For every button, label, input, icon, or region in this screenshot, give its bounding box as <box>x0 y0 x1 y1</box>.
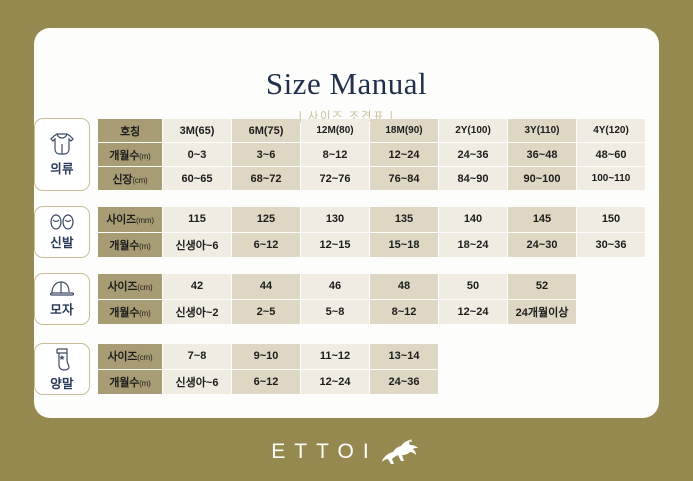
running-horse-icon <box>380 439 422 465</box>
row-header-label: 사이즈 <box>108 281 138 293</box>
row-header: 호칭 <box>98 119 162 142</box>
size-table: 호칭3M(65)6M(75)12M(80)18M(90)2Y(100)3Y(11… <box>97 118 646 191</box>
row-header-unit: (m) <box>139 152 150 161</box>
table-cell: 6~12 <box>232 233 300 258</box>
table-cell: 90~100 <box>508 167 576 190</box>
row-header-label: 개월수 <box>109 150 139 162</box>
table-cell: 0~3 <box>163 143 231 166</box>
row-header-unit: (cm) <box>132 176 147 185</box>
table-row: 개월수(m)신생아~66~1212~2424~36 <box>98 370 438 395</box>
row-header-label: 신장 <box>112 174 132 186</box>
cap-icon <box>48 280 76 297</box>
row-header: 사이즈(mm) <box>98 207 162 232</box>
category-name: 양말 <box>50 373 74 392</box>
table-cell: 2Y(100) <box>439 119 507 142</box>
table-cell: 36~48 <box>508 143 576 166</box>
table-cell: 13~14 <box>370 344 438 369</box>
brand-name: ETTOI <box>271 440 377 464</box>
table-cell: 150 <box>577 207 645 232</box>
table-cell: 24~30 <box>508 233 576 258</box>
row-header-label: 개월수 <box>109 240 139 252</box>
table-cell: 12~24 <box>439 300 507 325</box>
row-header-unit: (m) <box>139 379 150 388</box>
footer: ETTOI <box>0 432 693 472</box>
table-cell: 3Y(110) <box>508 119 576 142</box>
table-cell: 15~18 <box>370 233 438 258</box>
table-cell: 18~24 <box>439 233 507 258</box>
table-row: 호칭3M(65)6M(75)12M(80)18M(90)2Y(100)3Y(11… <box>98 119 645 142</box>
table-cell: 신생아~6 <box>163 233 231 258</box>
table-cell: 12~15 <box>301 233 369 258</box>
table-row: 사이즈(cm)7~89~1011~1213~14 <box>98 344 438 369</box>
size-section-의류: 의류호칭3M(65)6M(75)12M(80)18M(90)2Y(100)3Y(… <box>34 118 646 191</box>
table-cell: 11~12 <box>301 344 369 369</box>
row-header-label: 사이즈 <box>108 351 138 363</box>
table-cell: 7~8 <box>163 344 231 369</box>
row-header-unit: (m) <box>139 309 150 318</box>
table-cell: 3M(65) <box>163 119 231 142</box>
table-cell: 24~36 <box>370 370 438 395</box>
size-section-모자: 모자사이즈(cm)424446485052개월수(m)신생아~22~55~88~… <box>34 273 577 325</box>
table-cell: 신생아~6 <box>163 370 231 395</box>
table-cell: 125 <box>232 207 300 232</box>
table-row: 사이즈(cm)424446485052 <box>98 274 576 299</box>
table-cell: 9~10 <box>232 344 300 369</box>
table-cell: 84~90 <box>439 167 507 190</box>
table-row: 개월수(m)신생아~66~1212~1515~1818~2424~3030~36 <box>98 233 645 258</box>
table-cell: 8~12 <box>301 143 369 166</box>
category-name: 신발 <box>50 232 74 251</box>
row-header-label: 사이즈 <box>106 214 136 226</box>
row-header-unit: (cm) <box>137 283 152 292</box>
table-cell: 46 <box>301 274 369 299</box>
size-table: 사이즈(cm)7~89~1011~1213~14개월수(m)신생아~66~121… <box>97 343 439 395</box>
category-label-box: 모자 <box>34 273 90 325</box>
row-header-unit: (cm) <box>137 353 152 362</box>
table-cell: 60~65 <box>163 167 231 190</box>
category-label-box: 양말 <box>34 343 90 395</box>
table-cell: 신생아~2 <box>163 300 231 325</box>
table-cell: 115 <box>163 207 231 232</box>
table-cell: 42 <box>163 274 231 299</box>
size-section-양말: 양말사이즈(cm)7~89~1011~1213~14개월수(m)신생아~66~1… <box>34 343 439 395</box>
table-cell: 8~12 <box>370 300 438 325</box>
size-table: 사이즈(mm)115125130135140145150개월수(m)신생아~66… <box>97 206 646 258</box>
table-row: 개월수(m)0~33~68~1212~2424~3636~4848~60 <box>98 143 645 166</box>
table-row: 개월수(m)신생아~22~55~88~1212~2424개월이상 <box>98 300 576 325</box>
table-cell: 44 <box>232 274 300 299</box>
table-row: 신장(cm)60~6568~7272~7676~8484~9090~100100… <box>98 167 645 190</box>
row-header: 개월수(m) <box>98 300 162 325</box>
table-cell: 52 <box>508 274 576 299</box>
table-cell: 4Y(120) <box>577 119 645 142</box>
table-cell: 130 <box>301 207 369 232</box>
table-cell: 140 <box>439 207 507 232</box>
table-cell: 24개월이상 <box>508 300 576 325</box>
table-cell: 12~24 <box>370 143 438 166</box>
category-label-box: 의류 <box>34 118 90 191</box>
table-cell: 3~6 <box>232 143 300 166</box>
table-cell: 30~36 <box>577 233 645 258</box>
table-cell: 145 <box>508 207 576 232</box>
table-cell: 100~110 <box>577 167 645 190</box>
table-cell: 18M(90) <box>370 119 438 142</box>
row-header-label: 개월수 <box>109 377 139 389</box>
table-cell: 6M(75) <box>232 119 300 142</box>
table-row: 사이즈(mm)115125130135140145150 <box>98 207 645 232</box>
sock-icon <box>52 347 72 371</box>
table-cell: 48~60 <box>577 143 645 166</box>
table-cell: 68~72 <box>232 167 300 190</box>
table-cell: 24~36 <box>439 143 507 166</box>
row-header: 신장(cm) <box>98 167 162 190</box>
table-cell: 72~76 <box>301 167 369 190</box>
page-title: Size Manual <box>34 66 659 102</box>
table-cell: 12~24 <box>301 370 369 395</box>
baby-romper-icon <box>49 132 75 156</box>
category-name: 모자 <box>50 299 74 318</box>
table-cell: 2~5 <box>232 300 300 325</box>
table-cell: 135 <box>370 207 438 232</box>
table-cell: 48 <box>370 274 438 299</box>
size-section-신발: 신발사이즈(mm)115125130135140145150개월수(m)신생아~… <box>34 206 646 258</box>
row-header: 사이즈(cm) <box>98 274 162 299</box>
row-header: 사이즈(cm) <box>98 344 162 369</box>
shoes-icon <box>49 214 75 230</box>
row-header: 개월수(m) <box>98 233 162 258</box>
size-table: 사이즈(cm)424446485052개월수(m)신생아~22~55~88~12… <box>97 273 577 325</box>
row-header: 개월수(m) <box>98 143 162 166</box>
row-header: 개월수(m) <box>98 370 162 395</box>
category-label-box: 신발 <box>34 206 90 258</box>
row-header-unit: (m) <box>139 242 150 251</box>
size-manual-page: Size Manual | 사이즈 조견표 | 의류호칭3M(65)6M(75)… <box>0 0 693 481</box>
table-cell: 50 <box>439 274 507 299</box>
row-header-unit: (mm) <box>136 216 154 225</box>
row-header-label: 개월수 <box>109 307 139 319</box>
table-cell: 5~8 <box>301 300 369 325</box>
table-cell: 6~12 <box>232 370 300 395</box>
table-cell: 12M(80) <box>301 119 369 142</box>
row-header-label: 호칭 <box>120 126 140 138</box>
category-name: 의류 <box>50 158 74 177</box>
table-cell: 76~84 <box>370 167 438 190</box>
